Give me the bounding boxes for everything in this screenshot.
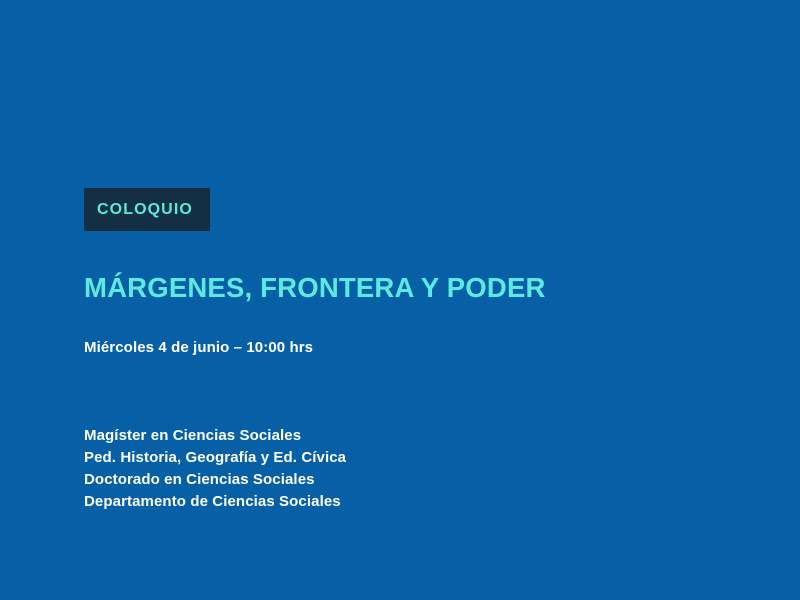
list-item: Ped. Historia, Geografía y Ed. Cívica [84, 447, 744, 469]
organizing-programs-list: Magíster en Ciencias Sociales Ped. Histo… [84, 357, 744, 513]
event-datetime: Miércoles 4 de junio – 10:00 hrs [84, 303, 744, 357]
list-item: Magíster en Ciencias Sociales [84, 425, 744, 447]
event-title: MÁRGENES, FRONTERA Y PODER [84, 231, 744, 303]
list-item: Doctorado en Ciencias Sociales [84, 469, 744, 491]
event-announcement-slide: COLOQUIO MÁRGENES, FRONTERA Y PODER Miér… [0, 0, 800, 600]
event-type-badge: COLOQUIO [84, 188, 210, 231]
slide-content-block: COLOQUIO MÁRGENES, FRONTERA Y PODER Miér… [84, 188, 744, 513]
list-item: Departamento de Ciencias Sociales [84, 491, 744, 513]
